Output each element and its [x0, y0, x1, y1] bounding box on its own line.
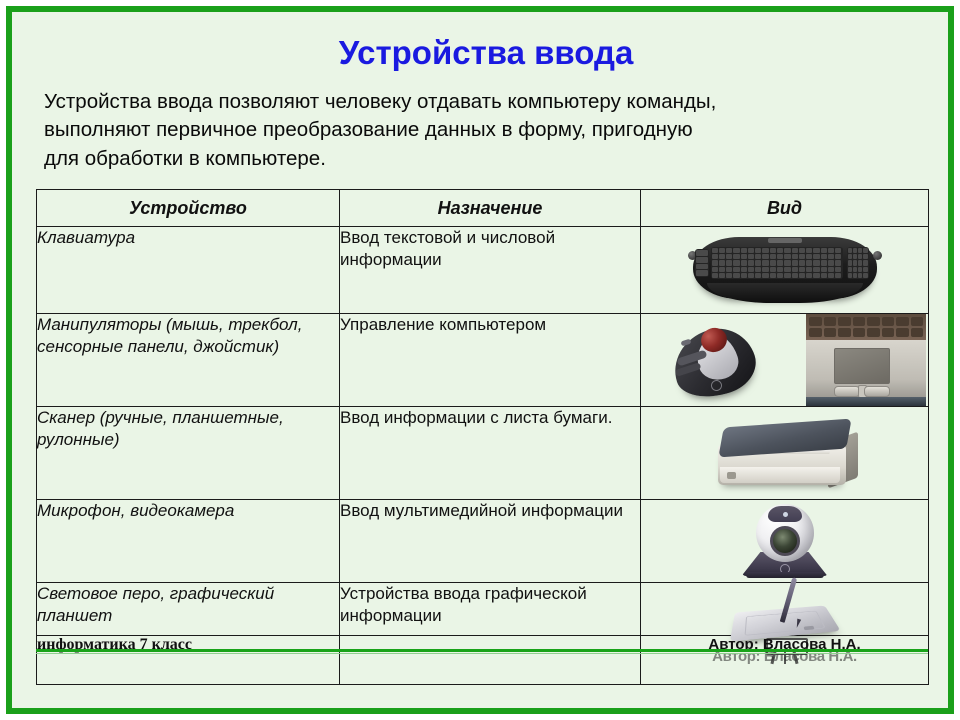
- intro-line-2: выполняют первичное преобразование данны…: [44, 116, 924, 144]
- cell-device-manipulators: Манипуляторы (мышь, трекбол, сенсорные п…: [37, 314, 340, 407]
- slide-canvas: Устройства ввода Устройства ввода позвол…: [0, 0, 960, 720]
- cell-view-microphone: [641, 500, 929, 583]
- intro-paragraph: Устройства ввода позволяют человеку отда…: [44, 88, 924, 173]
- input-devices-table: Устройство Назначение Вид Клавиатура Вво…: [36, 189, 929, 685]
- footer-empty-cell: [340, 636, 641, 685]
- trackball-mouse-photo: [655, 320, 775, 404]
- course-label: информатика 7 класс: [37, 636, 340, 685]
- cell-device-scanner: Сканер (ручные, планшетные, рулонные): [37, 407, 340, 500]
- cell-purpose-lightpen: Устройства ввода графической информации: [340, 583, 641, 636]
- cell-view-keyboard: [641, 227, 929, 314]
- author-credit: Автор: Власова Н.А. Автор: Власова Н.А.: [641, 636, 929, 685]
- cell-device-lightpen: Световое перо, графический планшет: [37, 583, 340, 636]
- cell-purpose-microphone: Ввод мультимедийной информации: [340, 500, 641, 583]
- cell-purpose-scanner: Ввод информации с листа бумаги.: [340, 407, 641, 500]
- cell-view-scanner: [641, 407, 929, 500]
- cell-device-keyboard: Клавиатура: [37, 227, 340, 314]
- column-header-view: Вид: [641, 190, 929, 227]
- cell-purpose-keyboard: Ввод текстовой и числовой информации: [340, 227, 641, 314]
- cell-view-lightpen: [641, 583, 929, 636]
- webcam-photo: [730, 502, 840, 582]
- table-footer-row: информатика 7 класс Автор: Власова Н.А. …: [37, 636, 929, 685]
- keyboard-photo: [685, 231, 885, 309]
- table-header-row: Устройство Назначение Вид: [37, 190, 929, 227]
- table-row: Манипуляторы (мышь, трекбол, сенсорные п…: [37, 314, 929, 407]
- intro-line-1: Устройства ввода позволяют человеку отда…: [44, 88, 924, 116]
- green-divider-line: [36, 649, 928, 652]
- table-row: Микрофон, видеокамера Ввод мультимедийно…: [37, 500, 929, 583]
- slide-frame: Устройства ввода Устройства ввода позвол…: [6, 6, 954, 714]
- page-title: Устройства ввода: [12, 34, 960, 72]
- cell-device-microphone: Микрофон, видеокамера: [37, 500, 340, 583]
- flatbed-scanner-photo: [700, 415, 870, 495]
- table-row: Клавиатура Ввод текстовой и числовой инф…: [37, 227, 929, 314]
- laptop-touchpad-photo: [806, 314, 926, 406]
- cell-view-manipulators: [641, 314, 929, 407]
- cell-purpose-manipulators: Управление компьютером: [340, 314, 641, 407]
- table-row: Сканер (ручные, планшетные, рулонные) Вв…: [37, 407, 929, 500]
- green-divider-line-shadow: [36, 653, 928, 654]
- column-header-device: Устройство: [37, 190, 340, 227]
- column-header-purpose: Назначение: [340, 190, 641, 227]
- table-row: Световое перо, графический планшет Устро…: [37, 583, 929, 636]
- intro-line-3: для обработки в компьютере.: [44, 145, 924, 173]
